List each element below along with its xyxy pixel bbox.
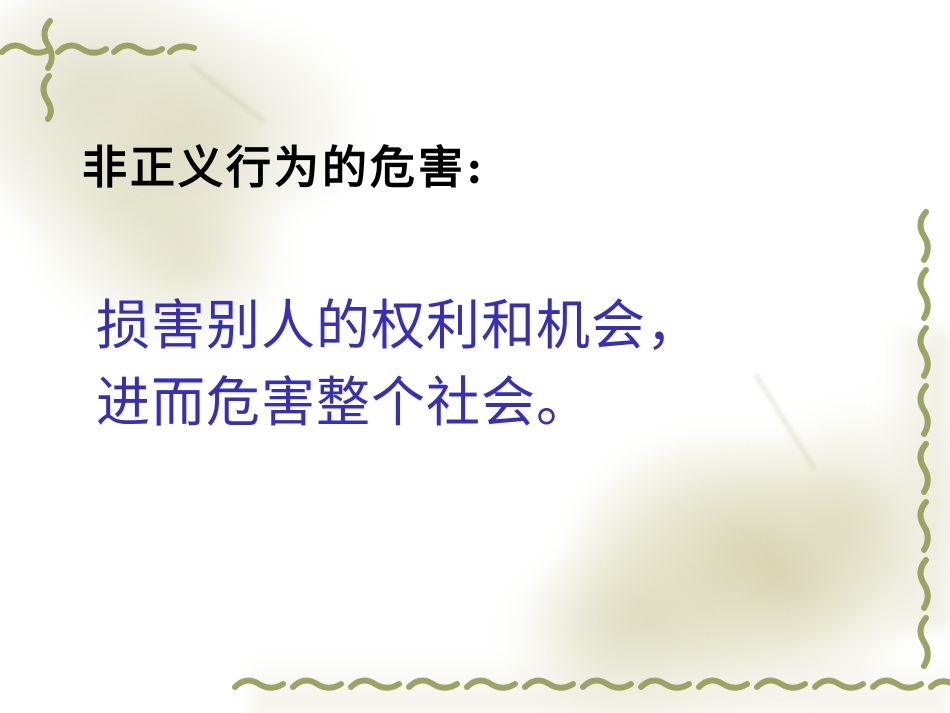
slide-title: 非正义行为的危害: bbox=[82, 143, 486, 193]
stem-watermark-icon bbox=[755, 374, 816, 469]
wavy-rule-icon bbox=[36, 18, 64, 122]
stem-watermark-icon bbox=[191, 64, 265, 123]
flower-watermark-icon bbox=[0, 0, 260, 240]
slide-body-text: 损害别人的权利和机会， 进而危害整个社会。 bbox=[96, 288, 701, 441]
wavy-rule-icon bbox=[0, 36, 200, 62]
flower-watermark-icon bbox=[575, 430, 905, 680]
edge-shading-right bbox=[880, 330, 950, 630]
edge-shading-bottom bbox=[250, 653, 950, 713]
presentation-slide: 非正义行为的危害: 损害别人的权利和机会， 进而危害整个社会。 bbox=[0, 0, 950, 713]
